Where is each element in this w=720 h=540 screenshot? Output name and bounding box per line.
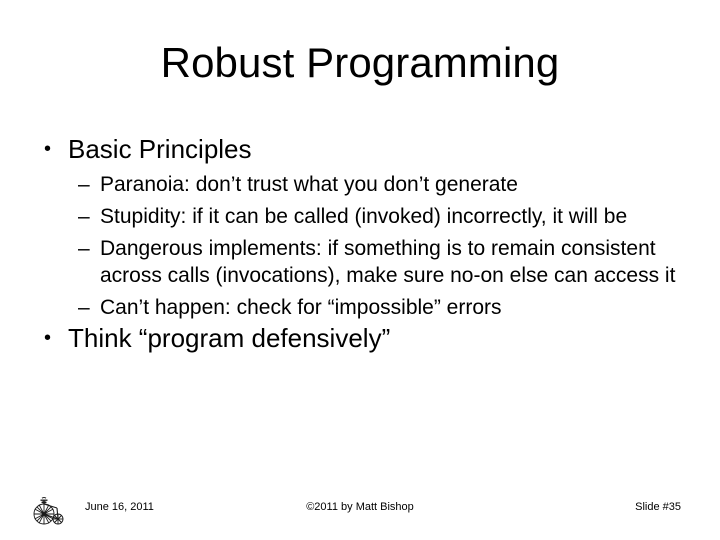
bullet-text: Stupidity: if it can be called (invoked)…: [100, 203, 684, 230]
bullet-level2-cant-happen: – Can’t happen: check for “impossible” e…: [36, 294, 684, 321]
bullet-marker-dash: –: [78, 294, 90, 321]
bullet-level2-paranoia: – Paranoia: don’t trust what you don’t g…: [36, 171, 684, 198]
slide-title: Robust Programming: [40, 38, 680, 88]
bullet-level2-stupidity: – Stupidity: if it can be called (invoke…: [36, 203, 684, 230]
bullet-marker-dot: •: [44, 321, 51, 355]
bullet-text: Can’t happen: check for “impossible” err…: [100, 294, 684, 321]
bullet-marker-dot: •: [44, 132, 51, 166]
bullet-level2-dangerous-implements: – Dangerous implements: if something is …: [36, 235, 684, 289]
bullet-level1-basic-principles: • Basic Principles: [36, 132, 684, 166]
bullet-text: Think “program defensively”: [68, 323, 390, 353]
bullet-marker-dash: –: [78, 235, 90, 262]
bullet-marker-dash: –: [78, 203, 90, 230]
bullet-text: Paranoia: don’t trust what you don’t gen…: [100, 171, 684, 198]
slide-footer: June 16, 2011 ©2011 by Matt Bishop Slide…: [0, 492, 720, 540]
slide: Robust Programming • Basic Principles – …: [0, 0, 720, 540]
sub-bullet-group: – Paranoia: don’t trust what you don’t g…: [36, 171, 684, 321]
bullet-marker-dash: –: [78, 171, 90, 198]
bullet-text: Dangerous implements: if something is to…: [100, 235, 684, 289]
footer-slide-number: Slide #35: [635, 500, 681, 514]
bullet-text: Basic Principles: [68, 134, 252, 164]
slide-body: • Basic Principles – Paranoia: don’t tru…: [36, 132, 684, 357]
bullet-level1-think-program-defensively: • Think “program defensively”: [36, 321, 684, 355]
footer-copyright: ©2011 by Matt Bishop: [0, 500, 720, 514]
